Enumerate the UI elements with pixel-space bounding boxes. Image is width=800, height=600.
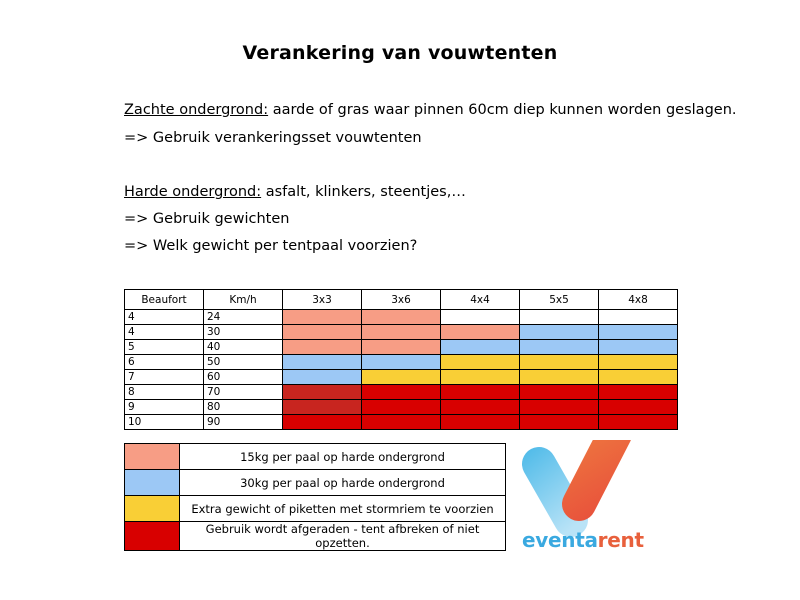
cell-3x6-yellow [362, 370, 441, 385]
cell-5x5-blue [520, 325, 599, 340]
cell-5x5-red [520, 400, 599, 415]
cell-kmh: 50 [204, 355, 283, 370]
cell-beaufort: 9 [125, 400, 204, 415]
legend-description: 30kg per paal op harde ondergrond [180, 470, 506, 496]
cell-beaufort: 7 [125, 370, 204, 385]
table-header-km-h: Km/h [204, 290, 283, 310]
wind-weight-table: BeaufortKm/h3x33x64x45x54x8 424430540650… [124, 289, 678, 430]
logo-word-rent: rent [598, 528, 644, 552]
table-header-4x8: 4x8 [599, 290, 678, 310]
legend-description: Extra gewicht of piketten met stormriem … [180, 496, 506, 522]
cell-4x8-blue [599, 325, 678, 340]
table-row: 1090 [125, 415, 678, 430]
cell-3x3-darkred [283, 385, 362, 400]
cell-4x8-red [599, 415, 678, 430]
cell-beaufort: 10 [125, 415, 204, 430]
table-header-beaufort: Beaufort [125, 290, 204, 310]
cell-3x6-blue [362, 355, 441, 370]
cell-3x6-sal [362, 340, 441, 355]
paragraph-hard-ground-advice: => Gebruik gewichten [124, 211, 289, 227]
cell-3x3-sal [283, 325, 362, 340]
table-body: 4244305406507608709801090 [125, 310, 678, 430]
cell-5x5-white [520, 310, 599, 325]
cell-beaufort: 5 [125, 340, 204, 355]
cell-4x8-yellow [599, 355, 678, 370]
cell-kmh: 90 [204, 415, 283, 430]
soft-ground-label: Zachte ondergrond: [124, 102, 268, 118]
legend-body: 15kg per paal op harde ondergrond30kg pe… [125, 444, 506, 551]
cell-4x4-red [441, 385, 520, 400]
legend-swatch-sal [125, 444, 180, 470]
cell-3x6-red [362, 415, 441, 430]
cell-5x5-red [520, 415, 599, 430]
cell-4x4-yellow [441, 355, 520, 370]
cell-3x3-sal [283, 340, 362, 355]
cell-kmh: 30 [204, 325, 283, 340]
paragraph-soft-ground: Zachte ondergrond: aarde of gras waar pi… [124, 102, 737, 118]
cell-3x6-sal [362, 325, 441, 340]
cell-beaufort: 6 [125, 355, 204, 370]
legend-row: Gebruik wordt afgeraden - tent afbreken … [125, 522, 506, 551]
cell-3x3-blue [283, 355, 362, 370]
page-title: Verankering van vouwtenten [0, 42, 800, 64]
cell-4x8-white [599, 310, 678, 325]
soft-ground-text: aarde of gras waar pinnen 60cm diep kunn… [268, 102, 736, 118]
cell-4x4-yellow [441, 370, 520, 385]
cell-4x8-yellow [599, 370, 678, 385]
legend-row: 15kg per paal op harde ondergrond [125, 444, 506, 470]
cell-kmh: 40 [204, 340, 283, 355]
paragraph-soft-ground-advice: => Gebruik verankeringsset vouwtenten [124, 130, 422, 146]
cell-3x3-sal [283, 310, 362, 325]
legend-row: Extra gewicht of piketten met stormriem … [125, 496, 506, 522]
cell-4x4-white [441, 310, 520, 325]
cell-5x5-yellow [520, 370, 599, 385]
legend-swatch-yellow [125, 496, 180, 522]
logo-wordmark: eventarent [522, 528, 644, 552]
legend-table: 15kg per paal op harde ondergrond30kg pe… [124, 443, 506, 551]
cell-kmh: 60 [204, 370, 283, 385]
legend-swatch-red [125, 522, 180, 551]
cell-kmh: 70 [204, 385, 283, 400]
cell-3x6-red [362, 385, 441, 400]
legend-description: 15kg per paal op harde ondergrond [180, 444, 506, 470]
table-header-row: BeaufortKm/h3x33x64x45x54x8 [125, 290, 678, 310]
hard-ground-text: asfalt, klinkers, steentjes,… [261, 184, 466, 200]
hard-ground-label: Harde ondergrond: [124, 184, 261, 200]
table-row: 760 [125, 370, 678, 385]
cell-kmh: 80 [204, 400, 283, 415]
paragraph-hard-ground: Harde ondergrond: asfalt, klinkers, stee… [124, 184, 466, 200]
cell-beaufort: 4 [125, 310, 204, 325]
cell-3x3-red [283, 415, 362, 430]
cell-3x6-red [362, 400, 441, 415]
cell-3x3-darkred [283, 400, 362, 415]
table-row: 430 [125, 325, 678, 340]
cell-4x8-blue [599, 340, 678, 355]
table-row: 424 [125, 310, 678, 325]
cell-beaufort: 8 [125, 385, 204, 400]
cell-3x3-blue [283, 370, 362, 385]
cell-kmh: 24 [204, 310, 283, 325]
table-row: 870 [125, 385, 678, 400]
legend-row: 30kg per paal op harde ondergrond [125, 470, 506, 496]
cell-4x4-red [441, 400, 520, 415]
legend-description: Gebruik wordt afgeraden - tent afbreken … [180, 522, 506, 551]
paragraph-hard-ground-question: => Welk gewicht per tentpaal voorzien? [124, 238, 417, 254]
logo-word-eventa: eventa [522, 528, 598, 552]
cell-3x6-sal [362, 310, 441, 325]
cell-4x4-red [441, 415, 520, 430]
cell-4x4-blue [441, 340, 520, 355]
table-row: 980 [125, 400, 678, 415]
table-row: 650 [125, 355, 678, 370]
cell-4x8-red [599, 400, 678, 415]
cell-5x5-yellow [520, 355, 599, 370]
cell-5x5-blue [520, 340, 599, 355]
table-row: 540 [125, 340, 678, 355]
table-header-3x3: 3x3 [283, 290, 362, 310]
table-header-5x5: 5x5 [520, 290, 599, 310]
logo-check-orange [562, 440, 632, 521]
cell-5x5-red [520, 385, 599, 400]
cell-4x8-red [599, 385, 678, 400]
table-header-4x4: 4x4 [441, 290, 520, 310]
cell-4x4-sal [441, 325, 520, 340]
legend-swatch-blue [125, 470, 180, 496]
table-header-3x6: 3x6 [362, 290, 441, 310]
cell-beaufort: 4 [125, 325, 204, 340]
